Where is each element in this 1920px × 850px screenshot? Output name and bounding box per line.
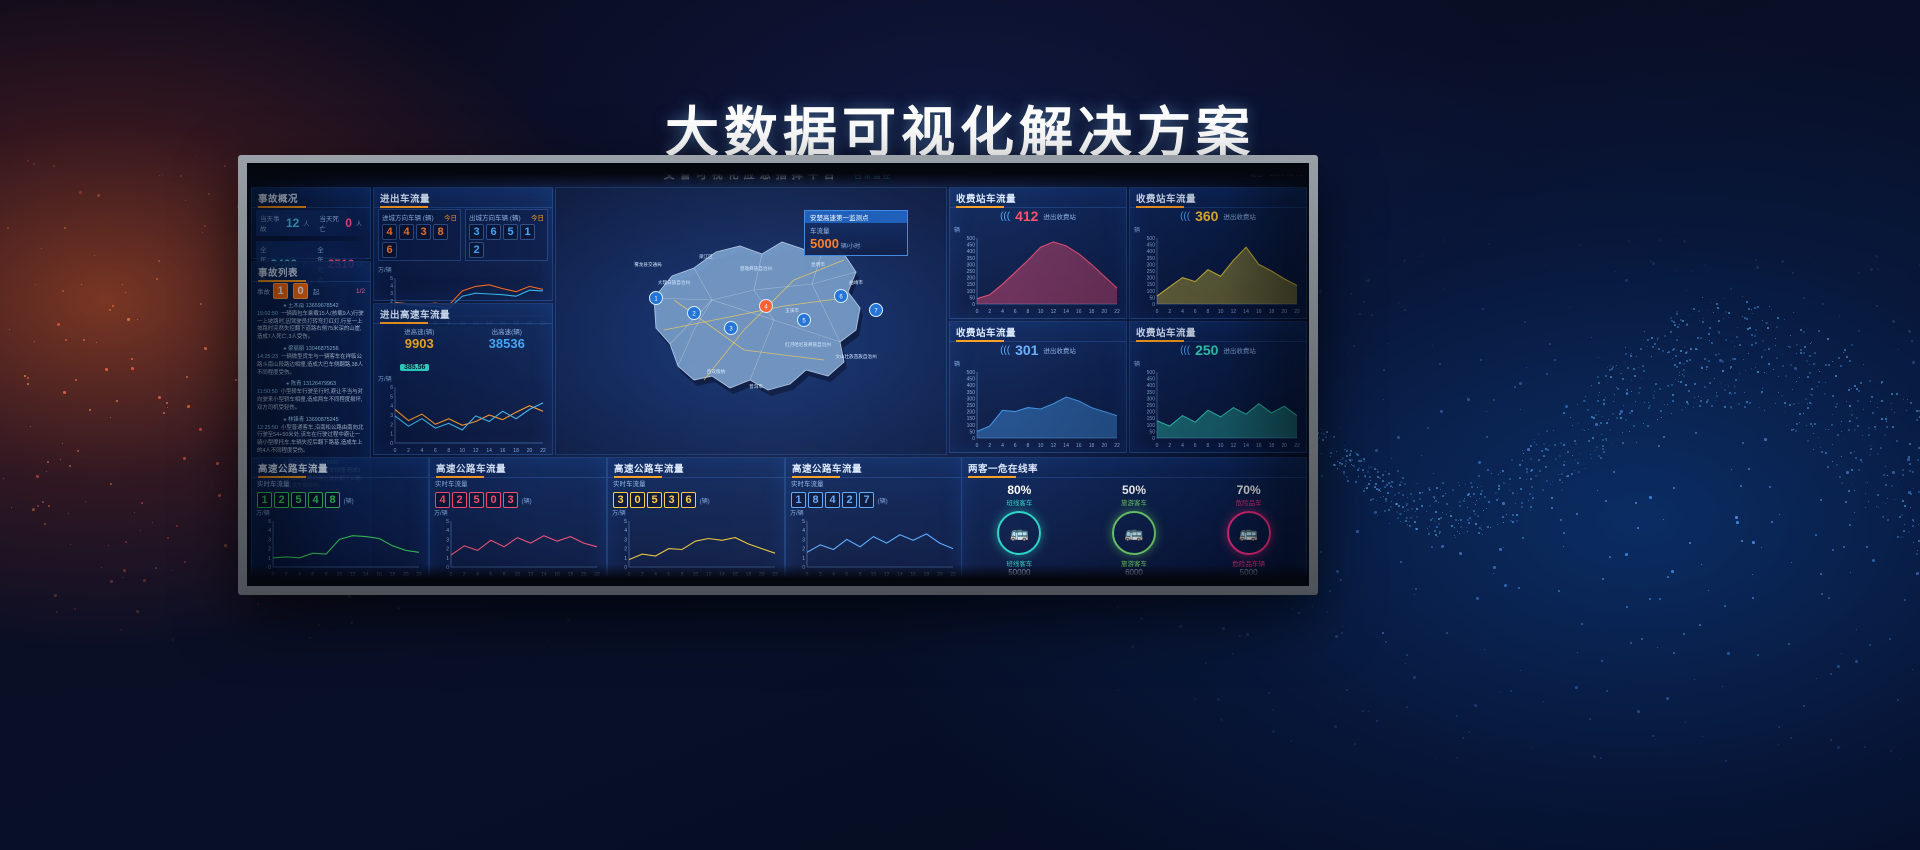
svg-text:2: 2: [988, 443, 991, 449]
flow-digit: 2: [452, 492, 467, 508]
chart-y-unit: 万/辆: [434, 508, 606, 517]
highway-flow-digits: 18427 (辆): [791, 490, 962, 508]
card-digit: 3: [469, 224, 484, 240]
map-city-label: 普洱市: [749, 383, 763, 390]
svg-text:3: 3: [268, 537, 271, 543]
svg-text:8: 8: [1207, 443, 1210, 449]
svg-text:5: 5: [802, 519, 805, 525]
svg-text:20: 20: [1101, 309, 1107, 315]
svg-text:1: 1: [802, 556, 805, 562]
svg-text:6: 6: [434, 448, 437, 454]
flow-digit: 0: [630, 492, 645, 508]
stat-value-2: 0: [345, 216, 352, 230]
svg-text:150: 150: [1147, 282, 1156, 288]
chart-svg: 0501001502002503003504004505000246810121…: [1133, 368, 1301, 450]
svg-text:500: 500: [1147, 370, 1156, 376]
flow-digit: 5: [647, 492, 662, 508]
accident-count-prefix: 事故: [257, 286, 270, 296]
highway-flow-sub: 实时车流量: [791, 478, 962, 488]
svg-text:50: 50: [969, 429, 975, 435]
svg-text:22: 22: [1114, 309, 1120, 315]
highway-inout-cards: 进高速(辆)9903出高速(辆)38536: [378, 326, 548, 351]
accident-text: 11:50:50 小型轿车行驶至行时,避让不当与对向驶来小型轿车相撞,造成两车不…: [257, 389, 365, 412]
svg-text:6: 6: [1194, 443, 1197, 449]
svg-text:4: 4: [268, 528, 271, 534]
map-panel: 1234567雾龙县交通局梁江区大理白族自治州楚雄彝族自治州昆明市曲靖市玉溪市红…: [555, 187, 947, 455]
svg-text:22: 22: [1294, 309, 1300, 315]
svg-text:250: 250: [967, 269, 976, 275]
chart-y-unit: 万/辆: [378, 265, 552, 274]
toll-station-panel-2: 收费站车流量((( 360进出收费站辆050100150200250300350…: [1129, 187, 1307, 319]
inout-flow-card: 出城方向车辆 (辆)今日36512: [465, 209, 548, 261]
svg-text:500: 500: [967, 370, 976, 376]
card-label: 进城方向车辆 (辆): [382, 212, 434, 222]
svg-text:2: 2: [624, 547, 627, 553]
map-city-label: 西双版纳: [707, 368, 726, 375]
svg-text:2: 2: [1168, 309, 1171, 315]
toll-station-head: ((( 412进出收费站: [950, 208, 1126, 224]
svg-text:300: 300: [1147, 396, 1156, 402]
svg-text:6: 6: [1014, 309, 1017, 315]
card-digit: 2: [469, 242, 484, 258]
inout-flow-card: 进城方向车辆 (辆)今日44386: [378, 209, 461, 261]
svg-text:450: 450: [967, 377, 976, 383]
map-city-label: 梁江区: [699, 253, 713, 260]
svg-text:500: 500: [1147, 236, 1156, 242]
accident-person: ⚹ 林锋青 13690875245: [257, 417, 365, 425]
svg-text:450: 450: [967, 243, 976, 249]
flow-digit: 6: [681, 492, 696, 508]
chart-svg: 0501001502002503003504004505000246810121…: [1133, 234, 1301, 316]
svg-text:18: 18: [1089, 309, 1095, 315]
card-label: 出城方向车辆 (辆): [469, 212, 521, 222]
map-city-label: 楚雄彝族自治州: [740, 265, 773, 272]
svg-text:8: 8: [1207, 309, 1210, 315]
svg-text:400: 400: [1147, 383, 1156, 389]
chart-y-unit: 万/辆: [256, 508, 428, 517]
svg-text:8: 8: [1027, 443, 1030, 449]
accident-person: ⚹ 王木南 13659678542: [257, 303, 365, 311]
card-badge: 今日: [444, 212, 457, 222]
svg-text:10: 10: [459, 448, 465, 454]
svg-text:14: 14: [1063, 309, 1069, 315]
chart-y-unit: 辆: [1134, 225, 1306, 234]
svg-text:8: 8: [1027, 309, 1030, 315]
flow-digit: 1: [257, 492, 272, 508]
tooltip-unit: 辆/小时: [839, 244, 860, 250]
svg-text:8: 8: [447, 448, 450, 454]
map-city-label: 玉溪市: [785, 307, 799, 314]
svg-text:3: 3: [390, 291, 393, 297]
svg-text:200: 200: [967, 276, 976, 282]
flow-digit: 4: [825, 492, 840, 508]
svg-text:0: 0: [394, 448, 397, 454]
gauge-percent: 70%: [1227, 483, 1271, 497]
flow-digit: 7: [859, 492, 874, 508]
svg-text:20: 20: [1281, 309, 1287, 315]
svg-text:300: 300: [967, 262, 976, 268]
svg-text:6: 6: [1014, 443, 1017, 449]
svg-text:300: 300: [967, 396, 976, 402]
svg-text:14: 14: [1243, 443, 1249, 449]
toll-station-panel-3: 收费站车流量((( 301进出收费站辆050100150200250300350…: [949, 321, 1127, 453]
screen-bottom-vignette: [247, 564, 1309, 586]
highway-flow-sub: 实时车流量: [435, 478, 606, 488]
svg-text:150: 150: [967, 282, 976, 288]
accident-count-digit: 1: [273, 283, 288, 299]
coach-icon: 🚌: [1112, 511, 1156, 555]
gauge-name: 危险品车: [1227, 497, 1271, 507]
accident-list-pager[interactable]: 1/2: [356, 288, 365, 295]
bus-icon: 🚌: [997, 511, 1041, 555]
flow-digit: 4: [435, 492, 450, 508]
svg-text:4: 4: [802, 528, 805, 534]
toll-value: 250: [1195, 342, 1218, 358]
chart-y-unit: 万/辆: [612, 508, 784, 517]
svg-text:12: 12: [1051, 443, 1057, 449]
svg-text:5: 5: [390, 276, 393, 282]
svg-text:0: 0: [1156, 443, 1159, 449]
svg-text:4: 4: [446, 528, 449, 534]
svg-text:4: 4: [390, 284, 393, 290]
signal-icon: (((: [1180, 211, 1190, 222]
svg-text:3: 3: [624, 537, 627, 543]
accident-text: 14:25:23 一辆微型货车与一辆客车在祥临公路斗南山段路边相撞,造成大巴车侧…: [257, 354, 365, 377]
svg-text:300: 300: [1147, 262, 1156, 268]
flow-unit: (辆): [520, 499, 532, 505]
svg-text:2: 2: [802, 547, 805, 553]
svg-text:150: 150: [967, 416, 976, 422]
signal-icon: (((: [1180, 345, 1190, 356]
accident-list-item[interactable]: ⚹ 王木南 1365967854215:02:50 一辆面包车乘载15人(核载9…: [257, 303, 365, 342]
toll-station-head: ((( 250进出收费站: [1130, 342, 1306, 358]
tooltip-title: 安楚高速第一监测点: [805, 211, 907, 223]
map-city-label: 大理白族自治州: [658, 279, 691, 286]
stat-label: 当天事故: [260, 213, 282, 233]
card-digit: 6: [486, 224, 501, 240]
svg-text:10: 10: [1218, 443, 1224, 449]
toll-station-panel-3-body: ((( 301进出收费站辆050100150200250300350400450…: [950, 339, 1126, 452]
toll-value: 301: [1015, 342, 1038, 358]
chart-svg: 0501001502002503003504004505000246810121…: [953, 368, 1121, 450]
online-rate-gauge: 70%危险品车🚌危险品车辆5000: [1227, 483, 1271, 577]
highway-flow-digits: 42503 (辆): [435, 490, 606, 508]
svg-text:22: 22: [1294, 443, 1300, 449]
toll-value: 360: [1195, 208, 1218, 224]
map-city-label: 雾龙县交通局: [634, 261, 662, 268]
accident-count-row: 事故10起1/2: [257, 283, 365, 299]
svg-text:350: 350: [1147, 256, 1156, 262]
tooltip-label: 车流量: [810, 225, 902, 235]
signal-icon: (((: [1000, 211, 1010, 222]
card-digits: 44386: [382, 222, 457, 258]
svg-text:10: 10: [1038, 443, 1044, 449]
gauge-name: 班线客车: [997, 497, 1041, 507]
flow-digit: 8: [808, 492, 823, 508]
signal-icon: (((: [1000, 345, 1010, 356]
truck-icon: 🚌: [1227, 511, 1271, 555]
video-wall: 交警可视化应急指挥平台 日常监控 南山 2018-01-01 事故概况当天事故1…: [238, 155, 1318, 595]
svg-text:22: 22: [1114, 443, 1120, 449]
chart-svg: 01234560246810121416182022: [377, 383, 547, 455]
svg-text:0: 0: [1156, 309, 1159, 315]
gauge-percent: 50%: [1112, 483, 1156, 497]
card-digit: 8: [433, 224, 448, 240]
svg-text:250: 250: [1147, 269, 1156, 275]
svg-text:50: 50: [969, 295, 975, 301]
accident-count-suffix: 起: [313, 286, 320, 296]
gauge-name: 旅游客车: [1112, 497, 1156, 507]
chart-svg: 0501001502002503003504004505000246810121…: [953, 234, 1121, 316]
map-city-label: 红河哈尼族彝族自治州: [785, 341, 831, 348]
map-city-label: 文山壮族苗族自治州: [835, 353, 877, 360]
svg-text:250: 250: [1147, 403, 1156, 409]
toll-station-panel-1: 收费站车流量((( 412进出收费站辆050100150200250300350…: [949, 187, 1127, 319]
accident-text: 12:25:50 小型普通客车,沿南松公路由南向北行驶至54+50米处,该车在行…: [257, 425, 365, 456]
wall-screen-area: 交警可视化应急指挥平台 日常监控 南山 2018-01-01 事故概况当天事故1…: [247, 163, 1309, 586]
online-rate-gauges: 80%班线客车🚌班线客车5000050%旅游客车🚌旅游客车600070%危险品车…: [962, 483, 1306, 577]
svg-text:1: 1: [268, 556, 271, 562]
accident-stat-row: 当天事故12人当天死亡0人: [256, 210, 366, 236]
svg-text:10: 10: [1218, 309, 1224, 315]
flow-digit: 3: [664, 492, 679, 508]
accident-count-digit: 0: [293, 283, 308, 299]
svg-text:400: 400: [967, 383, 976, 389]
svg-text:400: 400: [967, 249, 976, 255]
svg-text:450: 450: [1147, 243, 1156, 249]
accident-person: ⚹ 梁丽丽 13046875256: [257, 346, 365, 354]
toll-label: 进出收费站: [1043, 345, 1076, 355]
card-value: 38536: [466, 336, 549, 351]
flow-digit: 2: [274, 492, 289, 508]
highway-inout-chart: 01234560246810121416182022: [377, 383, 549, 460]
svg-text:50: 50: [1149, 295, 1155, 301]
flow-digit: 2: [842, 492, 857, 508]
flow-digit: 5: [469, 492, 484, 508]
flow-digit: 8: [325, 492, 340, 508]
svg-text:5: 5: [624, 519, 627, 525]
toll-station-panel-2-body: ((( 360进出收费站辆050100150200250300350400450…: [1130, 205, 1306, 318]
svg-text:4: 4: [624, 528, 627, 534]
svg-text:0: 0: [972, 436, 975, 442]
chart-y-unit: 辆: [954, 225, 1126, 234]
card-label: 出高速(辆): [466, 326, 549, 336]
svg-text:1: 1: [390, 432, 393, 438]
svg-text:2: 2: [390, 422, 393, 428]
chart-y-unit: 万/辆: [790, 508, 962, 517]
stat-unit: 人: [303, 219, 309, 228]
svg-text:4: 4: [421, 448, 424, 454]
svg-text:16: 16: [500, 448, 506, 454]
toll-station-panel-4-body: ((( 250进出收费站辆050100150200250300350400450…: [1130, 339, 1306, 452]
chart-y-unit: 万/辆: [378, 374, 552, 383]
stat-value: 12: [286, 216, 299, 230]
online-rate-gauge: 50%旅游客车🚌旅游客车6000: [1112, 483, 1156, 577]
svg-text:100: 100: [967, 423, 976, 429]
svg-text:0: 0: [976, 309, 979, 315]
highway-flow-digits: 30536 (辆): [613, 490, 784, 508]
svg-text:100: 100: [1147, 289, 1156, 295]
svg-text:1: 1: [446, 556, 449, 562]
flow-unit: (辆): [876, 499, 888, 505]
svg-text:200: 200: [1147, 276, 1156, 282]
card-digits: 36512: [469, 222, 544, 258]
svg-text:20: 20: [1101, 443, 1107, 449]
svg-text:2: 2: [1168, 443, 1171, 449]
svg-text:6: 6: [390, 385, 393, 391]
toll-label: 进出收费站: [1043, 211, 1076, 221]
flow-unit: (辆): [342, 499, 354, 505]
card-digit: 3: [416, 224, 431, 240]
svg-text:5: 5: [268, 519, 271, 525]
svg-text:12: 12: [1231, 443, 1237, 449]
dashboard-screen: 交警可视化应急指挥平台 日常监控 南山 2018-01-01 事故概况当天事故1…: [247, 163, 1309, 586]
toll-station-panel-4: 收费站车流量((( 250进出收费站辆050100150200250300350…: [1129, 321, 1307, 453]
card-badge: 今日: [531, 212, 544, 222]
svg-text:12: 12: [1231, 309, 1237, 315]
svg-text:250: 250: [967, 403, 976, 409]
chart-y-unit: 辆: [954, 359, 1126, 368]
toll-chart: 0501001502002503003504004505000246810121…: [1133, 234, 1303, 321]
svg-text:14: 14: [1243, 309, 1249, 315]
flow-digit: 5: [291, 492, 306, 508]
accident-overview-panel: 事故概况当天事故12人当天死亡0人全年事故3400人全年死亡2510人: [251, 187, 371, 259]
svg-text:12: 12: [1051, 309, 1057, 315]
map-tooltip: 安楚高速第一监测点车流量5000 辆/小时: [804, 210, 908, 256]
svg-text:2: 2: [407, 448, 410, 454]
svg-text:18: 18: [1269, 309, 1275, 315]
flow-digit: 1: [791, 492, 806, 508]
svg-text:16: 16: [1076, 309, 1082, 315]
svg-text:350: 350: [1147, 390, 1156, 396]
gauge-percent: 80%: [997, 483, 1041, 497]
svg-text:100: 100: [1147, 423, 1156, 429]
toll-label: 进出收费站: [1223, 345, 1256, 355]
card-digit: 6: [382, 242, 397, 258]
highway-peak-badge: 385.56: [400, 364, 429, 371]
stat-label-2: 当天死亡: [319, 213, 341, 233]
chart-y-unit: 辆: [1134, 359, 1306, 368]
tooltip-value: 5000: [810, 236, 839, 251]
svg-text:16: 16: [1076, 443, 1082, 449]
svg-text:200: 200: [967, 410, 976, 416]
accident-list-item[interactable]: ⚹ 梁丽丽 1304687525614:25:23 一辆微型货车与一辆客车在祥临…: [257, 346, 365, 377]
svg-text:100: 100: [967, 289, 976, 295]
flow-digit: 3: [503, 492, 518, 508]
svg-text:4: 4: [1001, 443, 1004, 449]
toll-chart: 0501001502002503003504004505000246810121…: [953, 368, 1123, 455]
svg-text:16: 16: [1256, 443, 1262, 449]
svg-text:150: 150: [1147, 416, 1156, 422]
stat-unit-2: 人: [356, 219, 362, 228]
online-rate-gauge: 80%班线客车🚌班线客车50000: [997, 483, 1041, 577]
svg-text:450: 450: [1147, 377, 1156, 383]
svg-text:0: 0: [1152, 436, 1155, 442]
flow-digit: 3: [613, 492, 628, 508]
svg-text:18: 18: [1089, 443, 1095, 449]
svg-text:0: 0: [390, 441, 393, 447]
card-label: 进高速(辆): [378, 326, 461, 336]
card-digit: 5: [503, 224, 518, 240]
svg-text:4: 4: [1181, 443, 1184, 449]
svg-text:5: 5: [446, 519, 449, 525]
card-digit: 1: [520, 224, 535, 240]
toll-station-panel-1-body: ((( 412进出收费站辆050100150200250300350400450…: [950, 205, 1126, 318]
svg-text:2: 2: [268, 547, 271, 553]
svg-text:350: 350: [967, 390, 976, 396]
flow-digit: 0: [486, 492, 501, 508]
svg-text:5: 5: [390, 394, 393, 400]
toll-chart: 0501001502002503003504004505000246810121…: [953, 234, 1123, 321]
svg-text:0: 0: [1152, 302, 1155, 308]
svg-text:20: 20: [1281, 443, 1287, 449]
inout-flow-panel-body: 进城方向车辆 (辆)今日44386出城方向车辆 (辆)今日36512万/辆012…: [374, 205, 552, 300]
svg-text:22: 22: [540, 448, 546, 454]
svg-text:4: 4: [1181, 309, 1184, 315]
svg-text:6: 6: [1194, 309, 1197, 315]
svg-text:18: 18: [1269, 443, 1275, 449]
svg-text:2: 2: [446, 547, 449, 553]
svg-text:0: 0: [976, 443, 979, 449]
inout-flow-panel: 进出车流量进城方向车辆 (辆)今日44386出城方向车辆 (辆)今日36512万…: [373, 187, 553, 301]
svg-text:1: 1: [624, 556, 627, 562]
accident-overview-panel-body: 当天事故12人当天死亡0人全年事故3400人全年死亡2510人: [252, 205, 370, 258]
flow-unit: (辆): [698, 499, 710, 505]
toll-value: 412: [1015, 208, 1038, 224]
highway-flow-sub: 实时车流量: [257, 478, 428, 488]
accident-list-item[interactable]: ⚹ 陈青 1312647996311:50:50 小型轿车行驶至行时,避让不当与…: [257, 381, 365, 412]
svg-text:16: 16: [1256, 309, 1262, 315]
toll-station-head: ((( 301进出收费站: [950, 342, 1126, 358]
svg-text:50: 50: [1149, 429, 1155, 435]
map-city-label: 曲靖市: [849, 279, 863, 286]
svg-text:14: 14: [486, 448, 492, 454]
svg-text:20: 20: [527, 448, 533, 454]
inout-flow-cards: 进城方向车辆 (辆)今日44386出城方向车辆 (辆)今日36512: [378, 209, 548, 261]
svg-text:10: 10: [1038, 309, 1044, 315]
highway-inout-panel: 进出高速车流量进高速(辆)9903出高速(辆)38536385.56万/辆012…: [373, 303, 553, 455]
highway-inout-card: 进高速(辆)9903: [378, 326, 461, 351]
svg-text:4: 4: [390, 404, 393, 410]
svg-text:3: 3: [802, 537, 805, 543]
highway-flow-sub: 实时车流量: [613, 478, 784, 488]
map-city-label: 昆明市: [811, 261, 825, 268]
svg-text:0: 0: [972, 302, 975, 308]
svg-text:200: 200: [1147, 410, 1156, 416]
svg-text:3: 3: [446, 537, 449, 543]
svg-text:2: 2: [988, 309, 991, 315]
accident-text: 15:02:50 一辆面包车乘载15人(核载9人)行驶一上坡路时,因驾驶员打转弯…: [257, 311, 365, 342]
toll-station-head: ((( 360进出收费站: [1130, 208, 1306, 224]
svg-text:12: 12: [473, 448, 479, 454]
svg-text:14: 14: [1063, 443, 1069, 449]
accident-list-item[interactable]: ⚹ 林锋青 1369087524512:25:50 小型普通客车,沿南松公路由南…: [257, 417, 365, 456]
card-digit: 4: [382, 224, 397, 240]
svg-text:350: 350: [967, 256, 976, 262]
card-value: 9903: [378, 336, 461, 351]
svg-text:4: 4: [1001, 309, 1004, 315]
poster-stage: 大数据可视化解决方案 交警可视化应急指挥平台 日常监控 南山 2018-01-0…: [0, 0, 1920, 850]
highway-flow-digits: 12548 (辆): [257, 490, 428, 508]
screen-top-vignette: [247, 163, 1309, 189]
svg-text:3: 3: [390, 413, 393, 419]
highway-inout-panel-body: 进高速(辆)9903出高速(辆)38536385.56万/辆0123456024…: [374, 321, 552, 454]
svg-text:500: 500: [967, 236, 976, 242]
svg-text:18: 18: [513, 448, 519, 454]
svg-text:400: 400: [1147, 249, 1156, 255]
highway-inout-card: 出高速(辆)38536: [466, 326, 549, 351]
toll-chart: 0501001502002503003504004505000246810121…: [1133, 368, 1303, 455]
